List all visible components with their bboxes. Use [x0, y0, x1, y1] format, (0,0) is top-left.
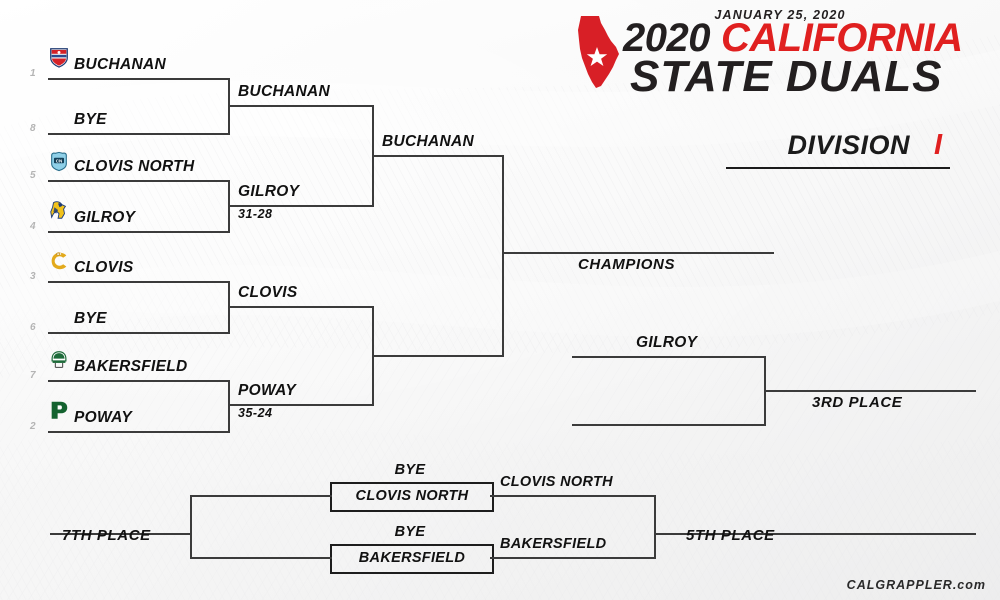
consolation-match-box: BAKERSFIELD	[330, 544, 494, 574]
consolation-line	[490, 495, 656, 497]
third-place-entry: GILROY	[636, 334, 697, 352]
champions-label: CHAMPIONS	[578, 256, 675, 273]
round1-line	[48, 380, 230, 382]
bracket-connector	[228, 380, 230, 433]
round2-line	[228, 105, 374, 107]
consolation-line	[490, 557, 656, 559]
bracket-connector	[190, 495, 192, 559]
round2-score: 35-24	[238, 406, 272, 420]
clovis-logo	[48, 250, 70, 272]
round1-line	[48, 332, 230, 334]
round2-line	[228, 306, 374, 308]
seed-number: 7	[30, 370, 36, 381]
division-number: I	[934, 129, 942, 162]
svg-text:CN: CN	[56, 158, 63, 163]
round1-team: CLOVIS NORTH	[74, 158, 194, 176]
round1-line	[48, 231, 230, 233]
round2-line	[228, 205, 374, 207]
third-place-label: 3RD PLACE	[812, 394, 902, 411]
round1-line	[48, 133, 230, 135]
california-state-icon	[575, 14, 623, 90]
round1-line	[48, 180, 230, 182]
third-place-line	[572, 356, 766, 358]
semifinal-line	[372, 155, 504, 157]
semifinal-team: BUCHANAN	[382, 133, 474, 151]
consolation-line	[190, 495, 332, 497]
consolation-advance-team: BAKERSFIELD	[500, 536, 606, 552]
consolation-advance-team: CLOVIS NORTH	[500, 474, 613, 490]
event-header: 2020 CALIFORNIA STATE DUALS JANUARY 25, …	[575, 8, 985, 108]
seed-number: 6	[30, 322, 36, 333]
semifinal-line	[372, 355, 504, 357]
title-state-duals: STATE DUALS	[630, 55, 942, 99]
round2-team: BUCHANAN	[238, 83, 330, 101]
bracket-connector	[654, 495, 656, 557]
third-place-result-line	[764, 390, 976, 392]
seed-number: 1	[30, 68, 36, 79]
round1-team: BAKERSFIELD	[74, 358, 188, 376]
division-label: DIVISION	[787, 130, 910, 161]
seed-number: 5	[30, 170, 36, 181]
seed-number: 2	[30, 421, 36, 432]
round1-team: CLOVIS	[74, 259, 134, 277]
fifth-place-label: 5TH PLACE	[686, 527, 775, 544]
round1-team: BUCHANAN	[74, 56, 166, 74]
consolation-match-box: CLOVIS NORTH	[330, 482, 494, 512]
round1-team: POWAY	[74, 409, 132, 427]
consolation-bye-label: BYE	[330, 462, 490, 478]
round1-line	[48, 281, 230, 283]
poway-logo	[48, 399, 70, 421]
consolation-bye-label: BYE	[330, 524, 490, 540]
round2-team: POWAY	[238, 382, 296, 400]
third-place-line	[572, 424, 766, 426]
consolation-line	[190, 557, 332, 559]
clovis-north-logo: CN	[48, 150, 70, 172]
seed-number: 4	[30, 221, 36, 232]
seed-number: 3	[30, 271, 36, 282]
round2-team: CLOVIS	[238, 284, 298, 302]
round1-team: BYE	[74, 111, 107, 129]
seventh-place-label: 7TH PLACE	[62, 527, 151, 544]
consolation-box-team: BAKERSFIELD	[332, 550, 492, 566]
gilroy-logo	[48, 199, 70, 221]
championship-line	[502, 252, 774, 254]
round1-line	[48, 431, 230, 433]
bracket-connector	[502, 155, 504, 356]
consolation-box-team: CLOVIS NORTH	[332, 488, 492, 504]
seed-number: 8	[30, 123, 36, 134]
round1-team: BYE	[74, 310, 107, 328]
division-rule	[726, 167, 950, 169]
round2-line	[228, 404, 374, 406]
round1-team: GILROY	[74, 209, 135, 227]
round2-score: 31-28	[238, 207, 272, 221]
bakersfield-logo	[48, 349, 70, 371]
round1-line	[48, 78, 230, 80]
round2-team: GILROY	[238, 183, 299, 201]
buchanan-logo	[48, 46, 70, 68]
site-credit: CALGRAPPLER.com	[847, 578, 986, 592]
division-header: DIVISION I	[700, 130, 950, 176]
